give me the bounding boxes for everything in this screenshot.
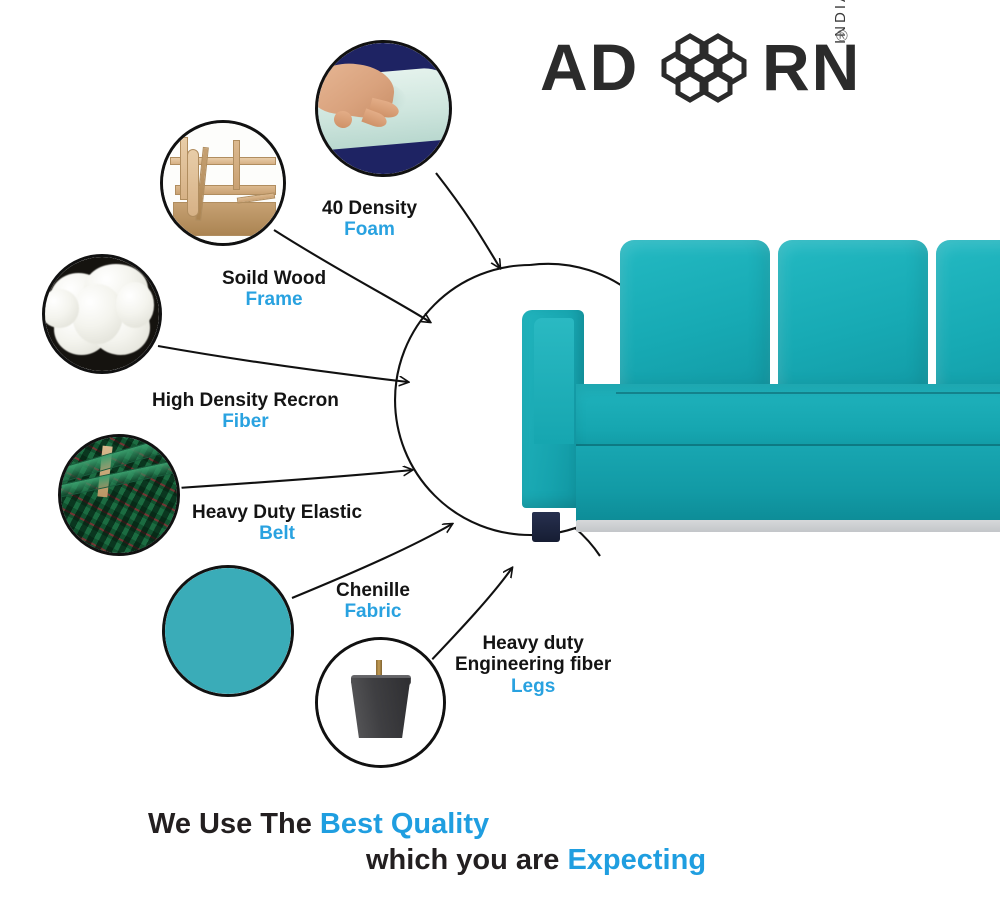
thumbnail-recron-fiber bbox=[42, 254, 162, 374]
infographic-canvas: AD RN INDIA ® bbox=[0, 0, 1000, 909]
sofa-armrest-inner bbox=[534, 318, 574, 444]
teal-fabric-swatch bbox=[165, 568, 291, 694]
sofa-cushion-seam bbox=[616, 392, 1000, 394]
sofa-seat-seam bbox=[576, 444, 1000, 446]
arrow-foam bbox=[436, 173, 500, 268]
hand-pressing-foam-photo bbox=[318, 43, 449, 174]
thumbnail-chenille-fabric bbox=[162, 565, 294, 697]
tagline-line-1: We Use The Best Quality bbox=[148, 806, 848, 842]
thumbnail-elastic-belt bbox=[58, 434, 180, 556]
label-foam: 40 Density Foam bbox=[322, 198, 417, 241]
label-legs: Heavy duty Engineering fiber Legs bbox=[455, 633, 611, 697]
wooden-sofa-frame-photo bbox=[163, 123, 283, 243]
arrow-belt bbox=[178, 470, 412, 488]
thumbnail-sofa-leg bbox=[315, 637, 446, 768]
white-recron-fiber-photo bbox=[45, 257, 159, 371]
label-chenille-fabric: Chenille Fabric bbox=[336, 580, 410, 623]
floor-shadow bbox=[576, 520, 1000, 532]
label-recron-fiber: High Density Recron Fiber bbox=[152, 390, 339, 433]
thumbnail-foam bbox=[315, 40, 452, 177]
tagline-line-2: which you are Expecting bbox=[148, 842, 848, 878]
sofa-back-cushion-2 bbox=[778, 240, 928, 398]
sofa-base bbox=[576, 446, 1000, 522]
label-wood-frame: Soild Wood Frame bbox=[222, 268, 326, 311]
tagline: We Use The Best Quality which you are Ex… bbox=[148, 806, 848, 879]
sofa-leg-front bbox=[532, 512, 560, 542]
teal-three-seater-sofa bbox=[520, 232, 1000, 542]
label-elastic-belt: Heavy Duty Elastic Belt bbox=[192, 502, 362, 545]
sofa-back-cushion-1 bbox=[620, 240, 770, 398]
green-elastic-webbing-photo bbox=[61, 437, 177, 553]
sofa-back-cushion-3 bbox=[936, 240, 1000, 398]
black-tapered-sofa-leg-photo bbox=[318, 640, 443, 765]
arrow-fiber bbox=[158, 346, 408, 382]
thumbnail-wood-frame bbox=[160, 120, 286, 246]
